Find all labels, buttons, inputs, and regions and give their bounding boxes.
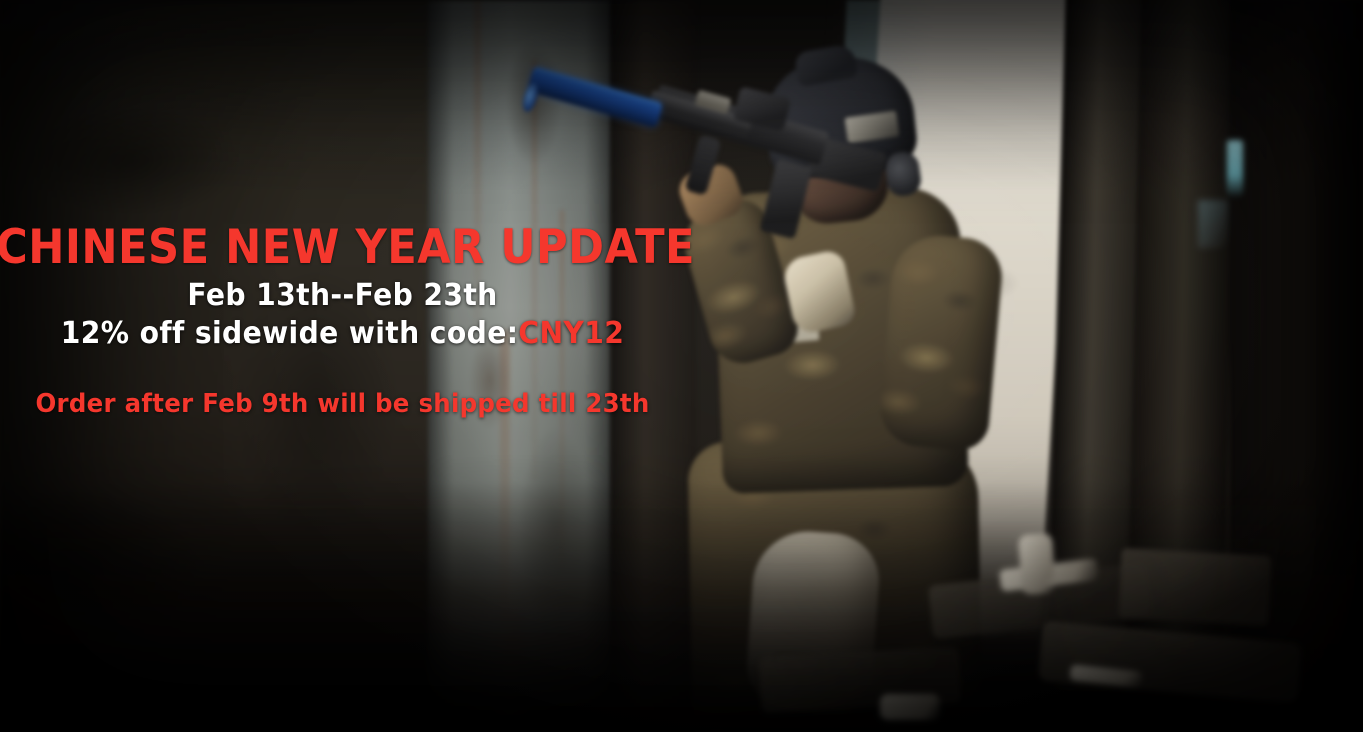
rifle-muzzle-cap: [520, 81, 541, 113]
promo-shipping-note: Order after Feb 9th will be shipped till…: [21, 388, 665, 420]
rubble-highlight: [880, 694, 940, 720]
promo-banner: CHINESE NEW YEAR UPDATE Feb 13th--Feb 23…: [0, 0, 1363, 732]
rifle-foregrip: [684, 134, 721, 196]
promo-date-range: Feb 13th--Feb 23th: [21, 278, 665, 314]
rubble-highlight: [1018, 533, 1056, 595]
background-scene: [0, 0, 1363, 732]
rifle-blue-barrel-extension: [527, 66, 663, 128]
promo-headline: CHINESE NEW YEAR UPDATE: [0, 222, 695, 274]
rifle-magazine: [760, 159, 813, 240]
rubble-chunk: [1038, 621, 1302, 703]
soldier-right-shoulder: [877, 232, 1005, 453]
rubble-chunk: [1118, 548, 1271, 626]
cyan-light-glint: [1227, 140, 1243, 198]
promo-offer-text: 12% off sidewide with code:: [61, 316, 519, 351]
promo-offer-line: 12% off sidewide with code:CNY12: [21, 316, 665, 352]
promo-code: CNY12: [518, 316, 624, 351]
cyan-light-haze: [1198, 200, 1228, 248]
debris-floor: [0, 482, 1363, 732]
